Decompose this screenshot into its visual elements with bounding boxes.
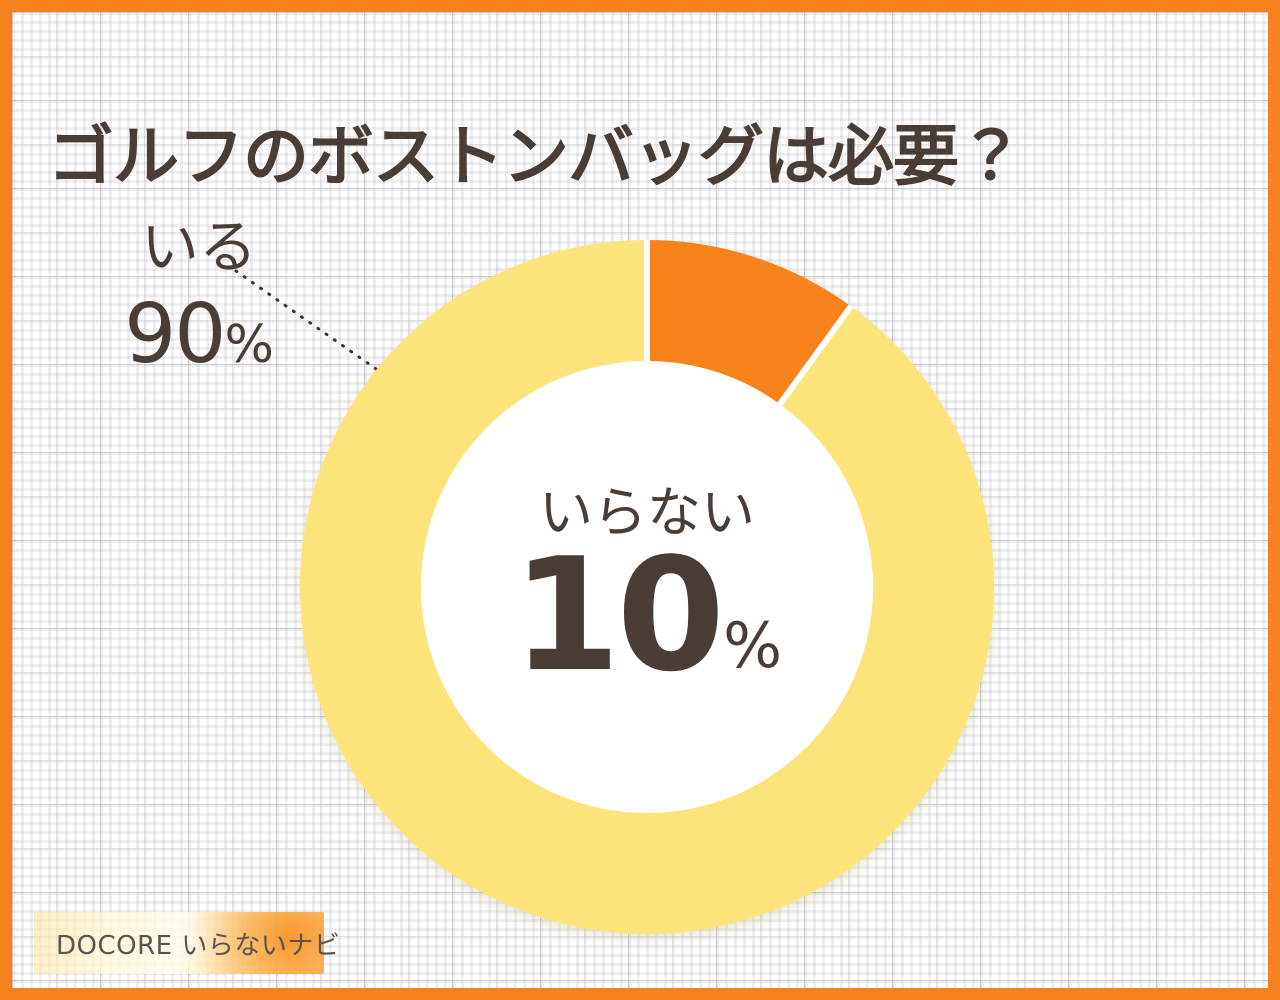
donut-center-disc bbox=[421, 361, 873, 813]
slice-label-iru-percent: % bbox=[224, 315, 273, 375]
donut-chart bbox=[300, 240, 994, 934]
brand-badge: DOCORE いらないナビ bbox=[34, 912, 324, 974]
slice-label-iru-value: 90% bbox=[64, 294, 334, 376]
slice-label-iru: いる 90% bbox=[64, 218, 334, 376]
brand-badge-label: DOCORE いらないナビ bbox=[56, 925, 340, 962]
infographic-canvas: ゴルフのボストンバッグは必要？ いる 90% bbox=[0, 0, 1280, 1000]
slice-label-iru-number: 90 bbox=[124, 287, 224, 382]
page-title: ゴルフのボストンバッグは必要？ bbox=[48, 122, 1248, 191]
slice-label-iru-name: いる bbox=[64, 218, 334, 276]
